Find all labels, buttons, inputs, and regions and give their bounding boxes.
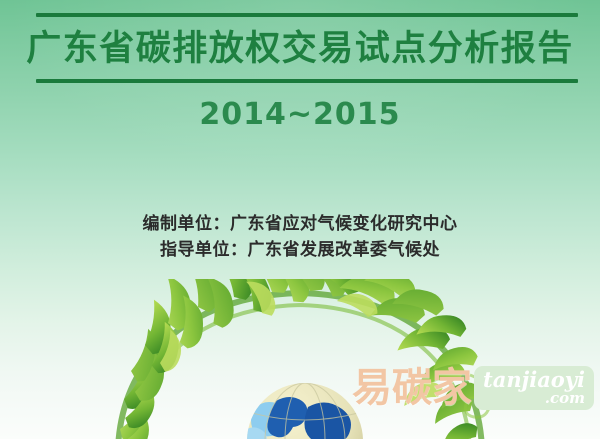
globe-graphic	[245, 383, 363, 439]
watermark-domain: tanjiaoyi	[483, 369, 585, 390]
watermark-brand-cn: 易碳家	[352, 366, 472, 410]
report-period-subtitle: 2014~2015	[0, 96, 600, 134]
title-rule-bottom	[36, 79, 578, 83]
credit-line-compiler: 编制单位：广东省应对气候变化研究中心	[0, 211, 600, 237]
credits-block: 编制单位：广东省应对气候变化研究中心 指导单位：广东省发展改革委气候处	[0, 211, 600, 263]
report-cover-page: 广东省碳排放权交易试点分析报告 2014~2015 编制单位：广东省应对气候变化…	[0, 0, 600, 439]
site-watermark: 易碳家 tanjiaoyi .com	[352, 365, 594, 411]
leaf-arch	[109, 279, 490, 439]
title-rule-top	[36, 13, 578, 17]
credit-line-supervisor: 指导单位：广东省发展改革委气候处	[0, 237, 600, 263]
page-title: 广东省碳排放权交易试点分析报告	[0, 26, 600, 72]
leaf-arch-globe-illustration	[0, 279, 600, 439]
watermark-tld: .com	[483, 391, 585, 406]
watermark-url-badge: tanjiaoyi .com	[474, 366, 594, 410]
